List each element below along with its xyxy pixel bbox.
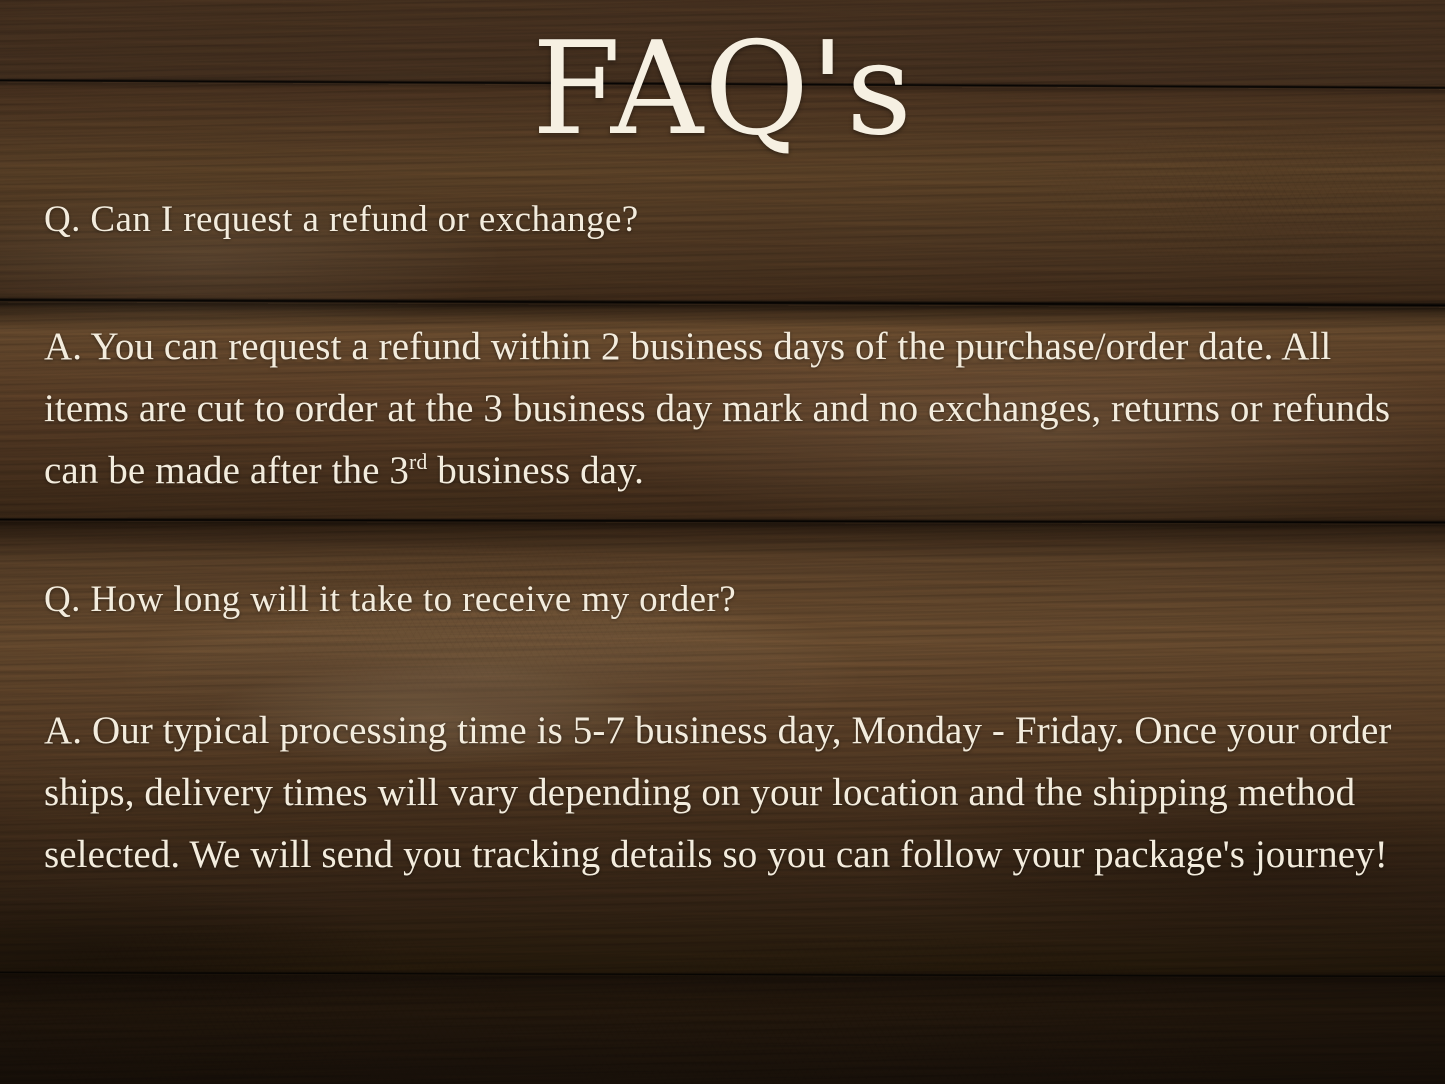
page-title: FAQ's <box>0 26 1445 154</box>
spacer-a1-q2 <box>44 502 1404 576</box>
faq-answer-1-text-after-ordinal: business day. <box>427 449 644 492</box>
spacer-q2-a2 <box>44 624 1404 700</box>
spacer-q1-a1 <box>44 244 1404 316</box>
faq-answer-1-ordinal-suffix: rd <box>409 450 427 474</box>
faq-list: Q. Can I request a refund or exchange? A… <box>44 196 1404 886</box>
faq-answer-1: A. You can request a refund within 2 bus… <box>44 316 1404 502</box>
faq-question-1: Q. Can I request a refund or exchange? <box>44 196 1404 244</box>
faq-question-2: Q. How long will it take to receive my o… <box>44 576 1404 624</box>
faq-answer-1-text-before-ordinal: A. You can request a refund within 2 bus… <box>44 325 1390 492</box>
faq-board: FAQ's Q. Can I request a refund or excha… <box>0 0 1445 1084</box>
faq-content: FAQ's Q. Can I request a refund or excha… <box>0 0 1445 1084</box>
faq-answer-2: A. Our typical processing time is 5-7 bu… <box>44 700 1404 886</box>
